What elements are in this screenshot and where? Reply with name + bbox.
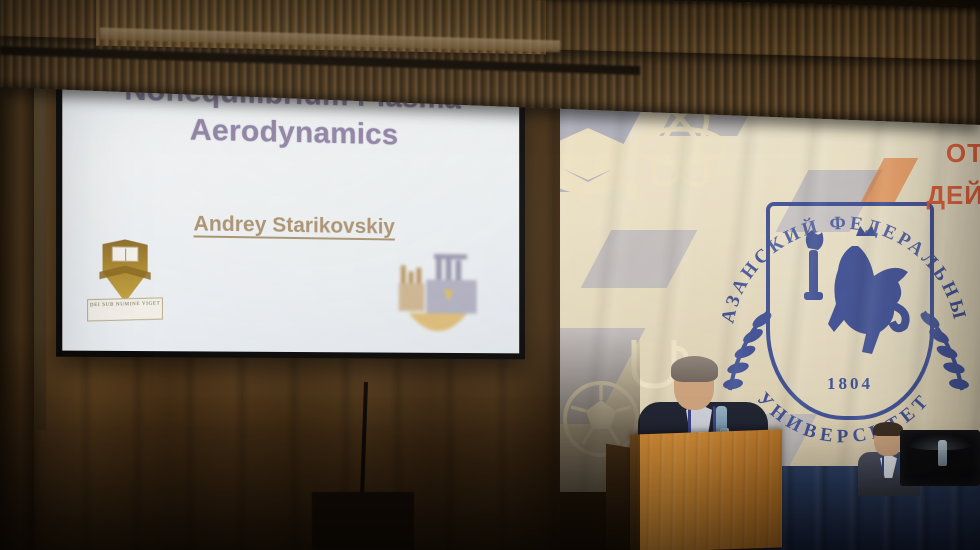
kfu-founded-year: 1804	[770, 374, 930, 394]
banner-red-text-line-3: ДЕЙ	[926, 180, 980, 211]
slide-title-line-2: Aerodynamics	[190, 114, 399, 152]
princeton-open-book-icon	[112, 246, 139, 262]
sponsor-logo-icon	[393, 249, 483, 345]
banner-shape-gray-3	[581, 230, 698, 288]
seated-attendee-hair	[873, 422, 903, 436]
conference-photo-scene: КАЗАНСКИЙ ФЕДЕРАЛЬНЫЙ УНИВЕРСИТЕТ	[0, 0, 980, 550]
princeton-university-shield-icon: DEI SUB NUMINE VIGET	[87, 239, 163, 333]
stage-equipment-box	[312, 492, 414, 550]
winged-snow-leopard-icon	[788, 220, 914, 370]
wooden-podium	[630, 429, 782, 550]
presenter-hair	[671, 356, 718, 382]
banner-red-text-line-2: ОТ	[946, 138, 980, 169]
water-bottle-table	[938, 440, 947, 466]
seated-attendee-lanyard	[882, 454, 899, 474]
slide-author: Andrey Starikovskiy	[62, 210, 519, 242]
kfu-shield: 1804	[766, 202, 934, 420]
